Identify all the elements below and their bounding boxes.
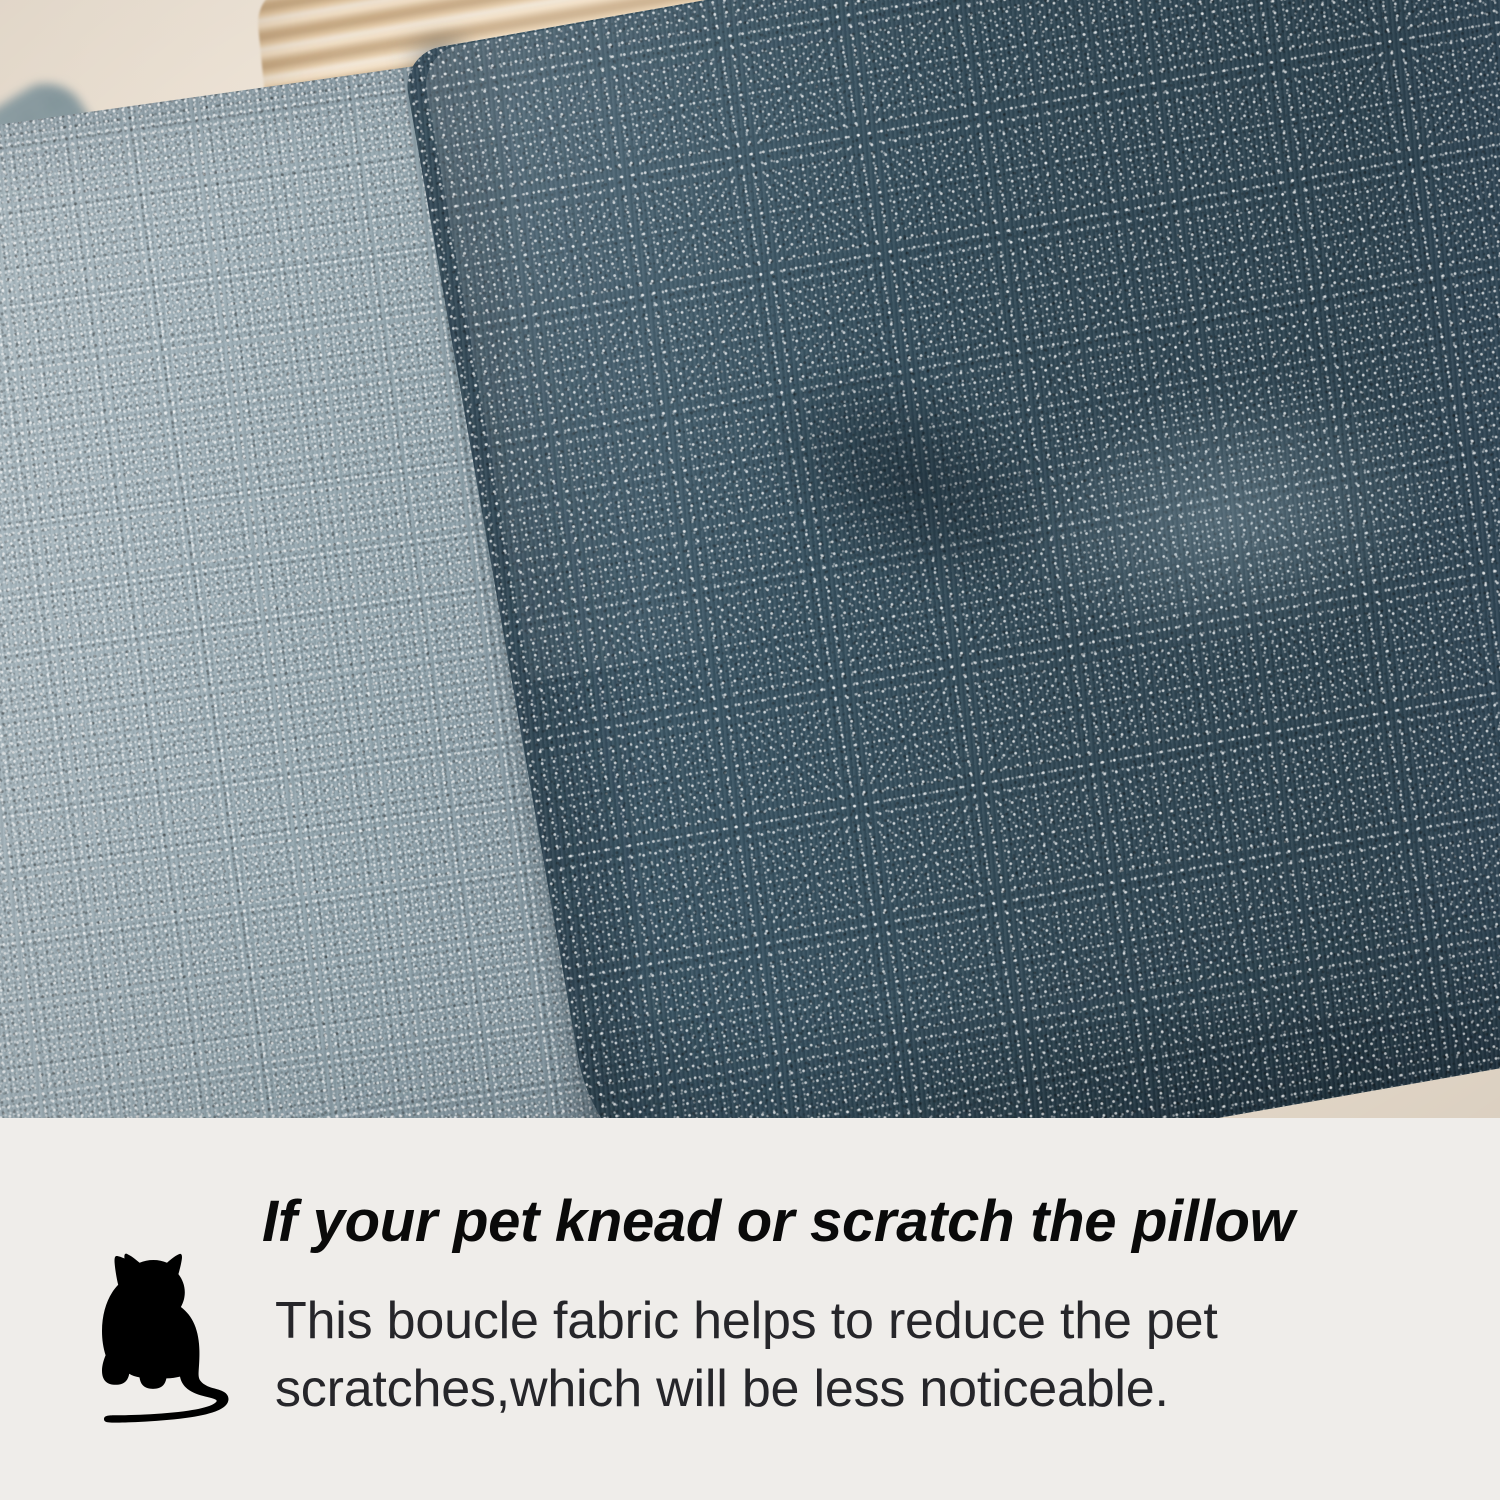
feature-body-copy: This boucle fabric helps to reduce the p…: [275, 1288, 1385, 1423]
feature-headline: If your pet knead or scratch the pillow: [262, 1192, 1402, 1252]
product-feature-image: If your pet knead or scratch the pillow …: [0, 0, 1500, 1500]
product-photo: [0, 0, 1500, 1118]
sitting-cat-silhouette-icon: [88, 1252, 238, 1427]
boucle-texture: [401, 0, 1500, 1118]
body-line-1: This boucle fabric helps to reduce the p…: [275, 1288, 1385, 1356]
body-line-2: scratches,which will be less noticeable.: [275, 1356, 1385, 1424]
weave-texture: [401, 0, 1500, 1118]
dark-teal-boucle-pillow: [401, 0, 1500, 1118]
